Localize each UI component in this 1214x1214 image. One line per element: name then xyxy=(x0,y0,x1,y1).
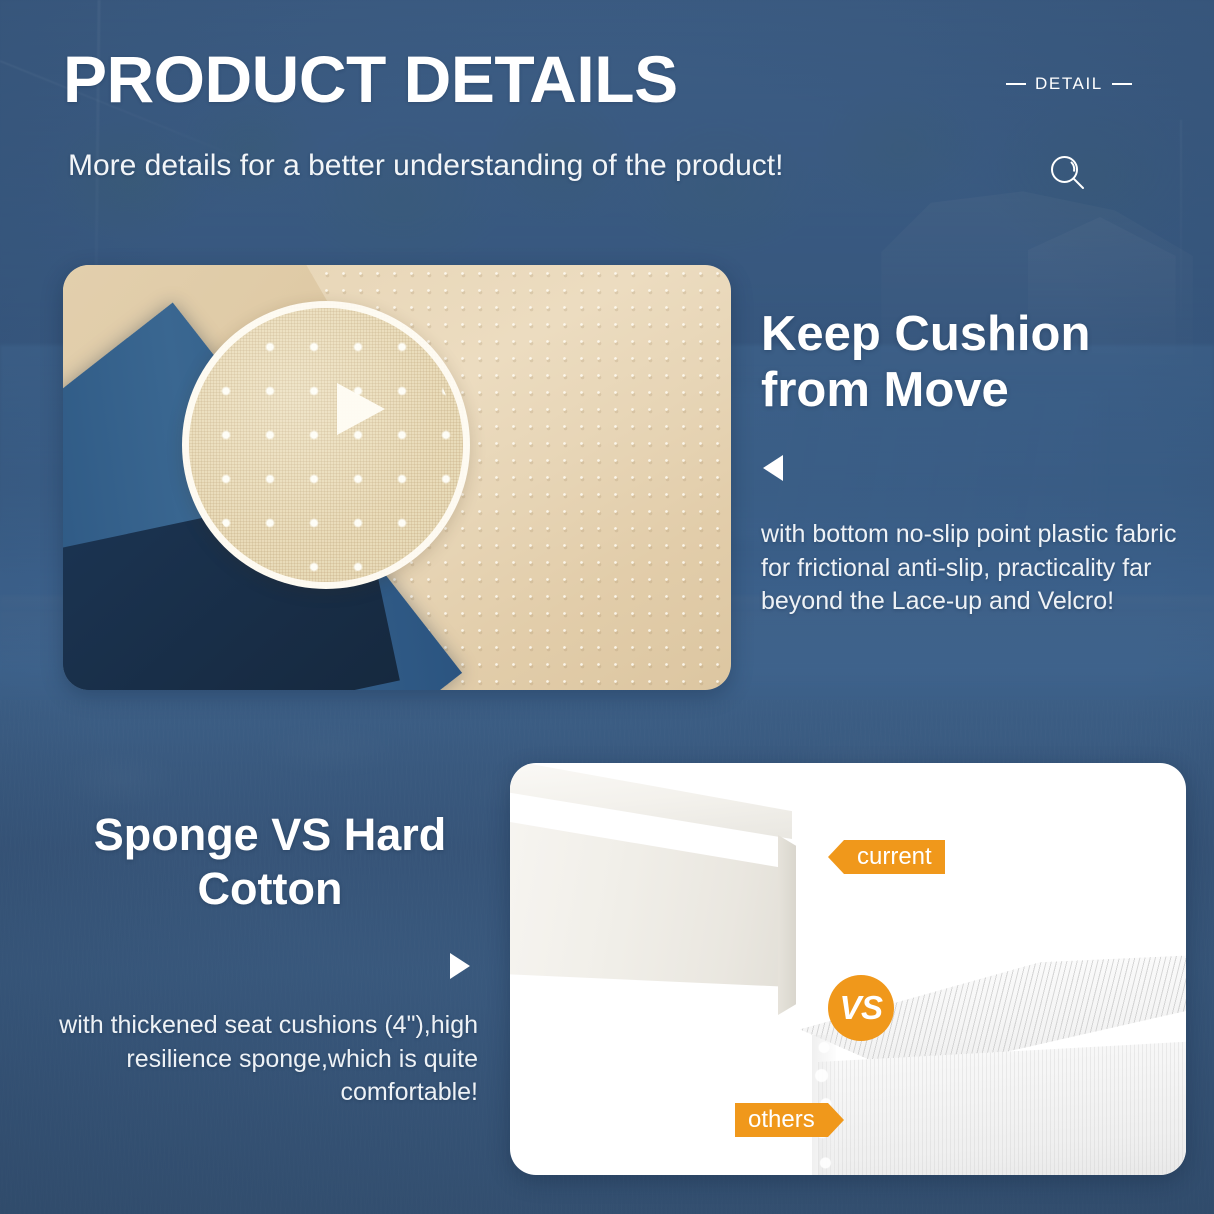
magnifier-callout-circle xyxy=(182,301,470,589)
detail-tag-label: DETAIL xyxy=(1035,74,1103,94)
search-icon[interactable] xyxy=(1047,152,1089,194)
dash-left-icon xyxy=(1006,83,1026,85)
section-one-body: with bottom no-slip point plastic fabric… xyxy=(761,518,1199,619)
section-one-heading: Keep Cushion from Move xyxy=(761,307,1191,419)
callout-ring xyxy=(182,301,470,589)
section-two-heading: Sponge VS Hard Cotton xyxy=(60,808,480,916)
callout-pointer-icon xyxy=(337,383,385,435)
badge-current-label: current xyxy=(844,840,945,874)
cushion-bottom-photo xyxy=(63,265,731,690)
sponge-block xyxy=(510,763,802,987)
badge-others: others xyxy=(735,1103,844,1137)
arrow-right-icon xyxy=(828,1103,844,1137)
arrow-left-icon xyxy=(828,840,844,874)
page-title: PRODUCT DETAILS xyxy=(63,46,678,112)
triangle-right-icon xyxy=(450,953,470,979)
badge-current: current xyxy=(828,840,945,874)
sponge-side-edge xyxy=(778,835,796,1015)
page-content: PRODUCT DETAILS More details for a bette… xyxy=(0,0,1214,1214)
section-two-body: with thickened seat cushions (4"),high r… xyxy=(35,1009,478,1110)
dash-right-icon xyxy=(1112,83,1132,85)
cotton-front-face xyxy=(818,1041,1186,1175)
callout-dot-nubs xyxy=(196,315,456,575)
sponge-vs-cotton-photo: current VS others xyxy=(510,763,1186,1175)
page-subtitle: More details for a better understanding … xyxy=(68,148,783,184)
triangle-left-icon xyxy=(763,455,783,481)
detail-tag: DETAIL xyxy=(1006,74,1132,94)
product-details-page: PRODUCT DETAILS More details for a bette… xyxy=(0,0,1214,1214)
vs-badge: VS xyxy=(828,975,894,1041)
badge-others-label: others xyxy=(735,1103,828,1137)
sponge-top-face xyxy=(510,763,792,839)
sponge-front-face xyxy=(510,819,792,987)
